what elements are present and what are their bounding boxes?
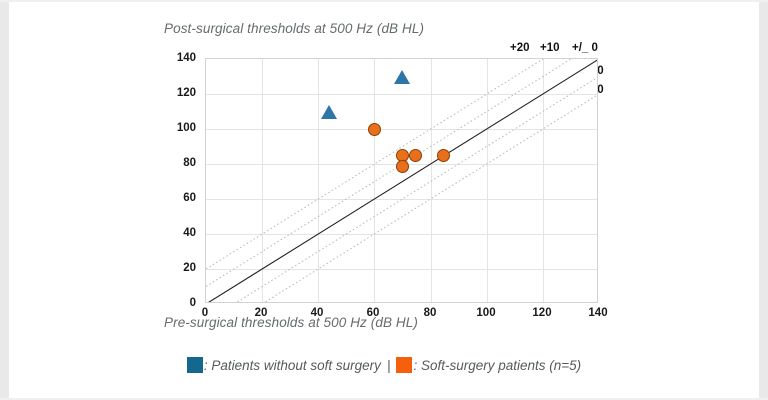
y-tick-60: 60: [156, 192, 196, 204]
y-tick-100: 100: [156, 122, 196, 134]
y-tick-80: 80: [156, 157, 196, 169]
data-point-triangle-2[interactable]: [394, 70, 410, 84]
y-tick-140: 140: [156, 52, 196, 64]
data-point-triangle-1[interactable]: [321, 105, 337, 119]
circle-marker-glyph: [368, 123, 381, 136]
circle-marker-glyph: [409, 149, 422, 162]
x-tick-140: 140: [578, 307, 618, 319]
plot-area: [205, 58, 598, 303]
x-tick-40: 40: [297, 307, 337, 319]
triangle-marker-glyph: [321, 105, 337, 119]
circle-marker-glyph: [437, 149, 450, 162]
reference-line-plus20: [206, 59, 543, 269]
x-tick-0: 0: [185, 307, 225, 319]
triangle-marker-glyph: [394, 70, 410, 84]
x-tick-100: 100: [466, 307, 506, 319]
legend-label-without-soft-surgery: : Patients without soft surgery: [204, 358, 381, 373]
circle-marker-glyph: [396, 160, 409, 173]
x-tick-120: 120: [522, 307, 562, 319]
reference-line-minus20: [262, 94, 598, 303]
x-tick-80: 80: [410, 307, 450, 319]
chart-figure: Post-surgical thresholds at 500 Hz (dB H…: [9, 2, 759, 398]
data-point-circle-1[interactable]: [368, 123, 381, 136]
reference-line-identity: [206, 59, 598, 303]
page-gutter-right: [759, 0, 768, 400]
page-root: Post-surgical thresholds at 500 Hz (dB H…: [0, 0, 768, 400]
x-tick-60: 60: [353, 307, 393, 319]
chart-legend: : Patients without soft surgery | : Soft…: [9, 357, 759, 373]
legend-swatch-without-soft-surgery[interactable]: [187, 357, 203, 373]
y-tick-120: 120: [156, 87, 196, 99]
diagonal-label-zero: +/_ 0: [572, 42, 598, 54]
legend-swatch-soft-surgery[interactable]: [396, 357, 412, 373]
reference-line-plus10: [206, 59, 571, 287]
diagonal-label-plus20: +20: [510, 42, 530, 54]
data-point-circle-5[interactable]: [437, 149, 450, 162]
y-axis-title: Post-surgical thresholds at 500 Hz (dB H…: [164, 21, 424, 36]
x-tick-20: 20: [241, 307, 281, 319]
y-tick-20: 20: [156, 262, 196, 274]
legend-separator: |: [387, 358, 391, 373]
reference-lines-layer: [206, 59, 598, 303]
data-point-circle-4[interactable]: [409, 149, 422, 162]
page-gutter-left: [0, 0, 9, 400]
y-tick-40: 40: [156, 227, 196, 239]
legend-label-soft-surgery: : Soft-surgery patients (n=5): [413, 358, 581, 373]
diagonal-label-plus10: +10: [540, 42, 560, 54]
reference-line-minus10: [234, 77, 598, 304]
data-point-circle-3[interactable]: [396, 160, 409, 173]
